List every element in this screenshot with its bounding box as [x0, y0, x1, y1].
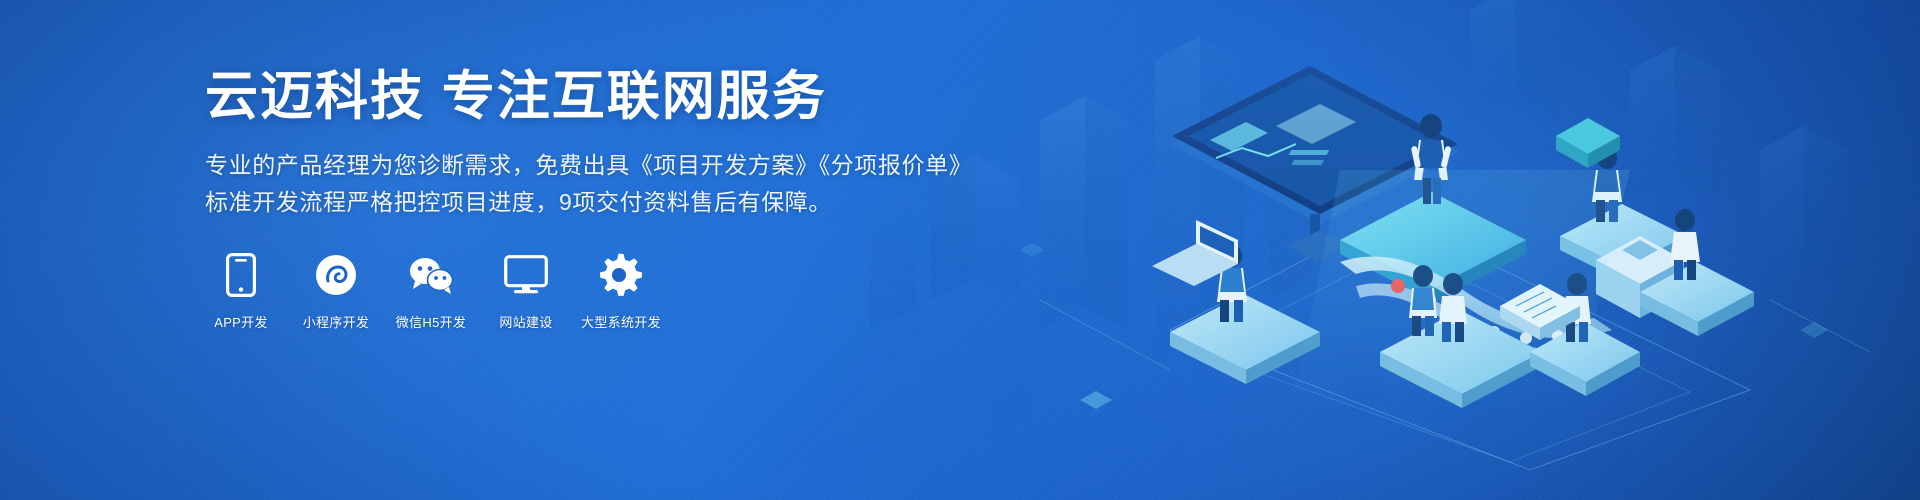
monitor-icon	[504, 251, 548, 299]
mobile-phone-icon	[226, 251, 256, 299]
mini-program-icon	[315, 251, 357, 299]
isometric-illustration	[870, 0, 1920, 500]
service-item-system[interactable]: 大型系统开发	[585, 251, 657, 331]
page-title: 云迈科技 专注互联网服务	[205, 66, 965, 129]
promo-banner: 云迈科技 专注互联网服务 专业的产品经理为您诊断需求，免费出具《项目开发方案》《…	[0, 0, 1920, 500]
service-label-app: APP开发	[214, 312, 268, 331]
service-icon-row: APP开发 小程序开发	[205, 251, 965, 331]
service-label-system: 大型系统开发	[581, 312, 661, 331]
banner-subtitle: 专业的产品经理为您诊断需求，免费出具《项目开发方案》《分项报价单》 标准开发流程…	[205, 147, 965, 222]
service-item-app[interactable]: APP开发	[205, 251, 277, 331]
service-item-wechat[interactable]: 微信H5开发	[395, 251, 467, 331]
gear-icon	[599, 251, 643, 299]
subtitle-line-2: 标准开发流程严格把控项目进度，9项交付资料售后有保障。	[205, 184, 965, 221]
service-label-wechat: 微信H5开发	[396, 312, 466, 331]
banner-content: 云迈科技 专注互联网服务 专业的产品经理为您诊断需求，免费出具《项目开发方案》《…	[205, 66, 965, 331]
service-label-website: 网站建设	[499, 312, 552, 331]
service-item-mini-program[interactable]: 小程序开发	[300, 251, 372, 331]
service-item-website[interactable]: 网站建设	[490, 251, 562, 331]
subtitle-line-1: 专业的产品经理为您诊断需求，免费出具《项目开发方案》《分项报价单》	[205, 147, 965, 184]
service-label-mini-program: 小程序开发	[303, 312, 370, 331]
wechat-icon	[407, 251, 455, 299]
